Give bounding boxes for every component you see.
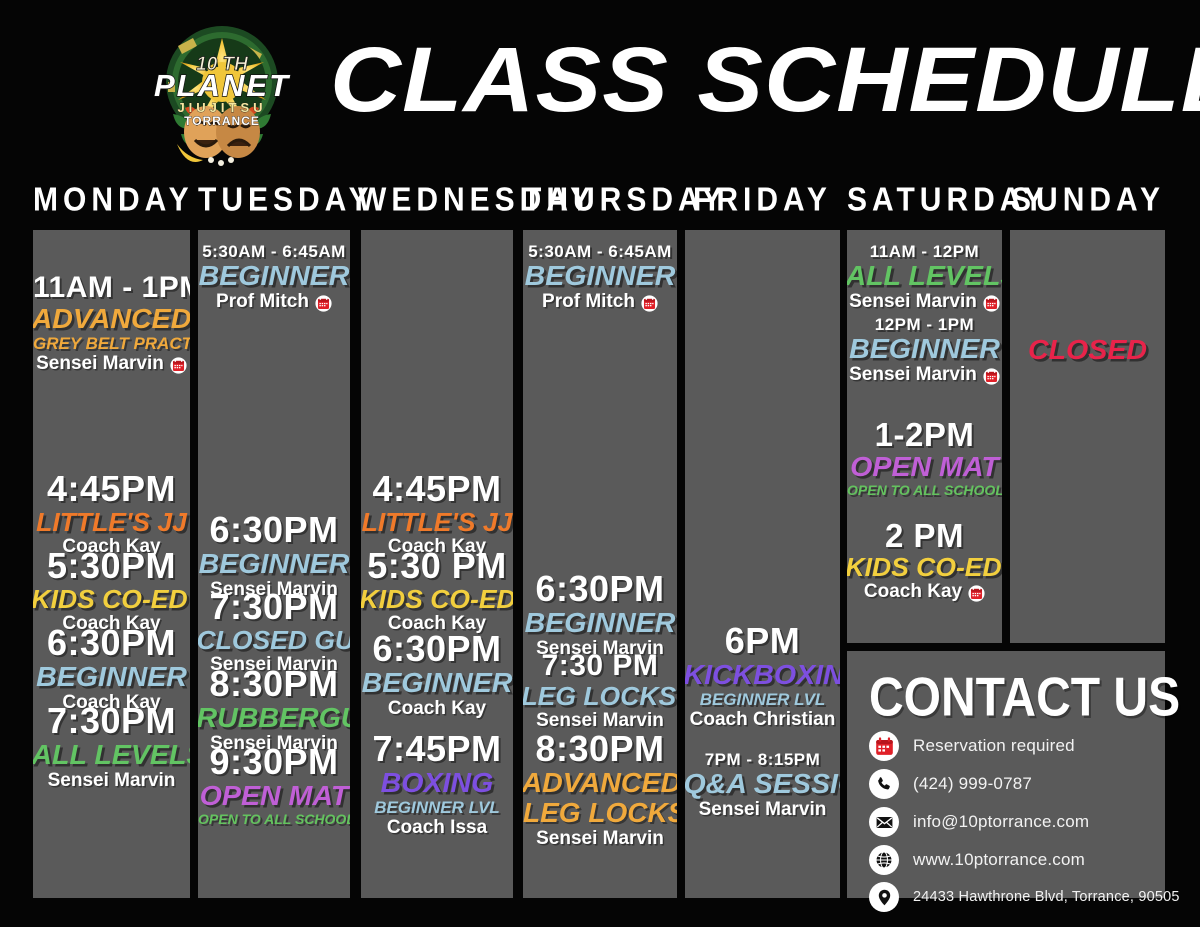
class-title: KICKBOXING [685, 660, 840, 690]
class-slot[interactable]: 7PM - 8:15PMQ&A SESSIONSensei Marvin [685, 750, 840, 821]
class-coach: Coach Kay [388, 698, 486, 720]
class-title: ALL LEVELS [847, 261, 1002, 291]
class-slot[interactable]: 7:30PMALL LEVELSSensei Marvin [33, 702, 190, 792]
class-title: BEGINNER [361, 668, 513, 698]
day-column-tuesday: 5:30AM - 6:45AMBEGINNERProf Mitch6:30PMB… [198, 230, 350, 898]
class-time: 8:30PM [198, 665, 350, 703]
class-slot[interactable]: 2 PMKIDS CO-ED JJCoach Kay [847, 518, 1002, 603]
class-title: BEGINNER [523, 608, 677, 638]
class-coach: Coach Issa [387, 817, 487, 839]
day-column-thursday: 5:30AM - 6:45AMBEGINNERProf Mitch6:30PMB… [523, 230, 677, 898]
reservation-calendar-icon [983, 295, 1000, 312]
class-time: 7PM - 8:15PM [685, 750, 840, 769]
class-slot[interactable]: 8:30PMADVANCEDLEG LOCKSSensei Marvin [523, 730, 677, 850]
day-column-friday: 6PMKICKBOXINGBEGINNER LVLCoach Christian… [685, 230, 840, 898]
class-title: BEGINNER [198, 549, 350, 579]
class-title: LITTLE'S JJ [361, 508, 513, 536]
class-title: CLOSED [1010, 335, 1165, 365]
day-header-sunday: SUNDAY [1008, 178, 1168, 223]
class-slot[interactable]: 5:30 PMKIDS CO-ED JJCoach Kay [361, 547, 513, 635]
day-column-monday: 11AM - 1PMADVANCEDGREY BELT PRACTICESens… [33, 230, 190, 898]
class-title: OPEN MAT [847, 452, 1002, 482]
class-coach: Sensei Marvin [536, 828, 664, 850]
class-slot[interactable]: 7:45PMBOXINGBEGINNER LVLCoach Issa [361, 730, 513, 839]
class-coach: Coach Christian [690, 709, 836, 731]
contact-row-phone[interactable]: (424) 999-0787 [869, 769, 1032, 799]
logo-text-line4: TORRANCE [184, 114, 260, 128]
class-slot[interactable]: 7:30 PMLEG LOCKS 101Sensei Marvin [523, 650, 677, 732]
tenth-planet-jiu-jitsu-torrance-logo: 10 TH PLANET JIUJITSU TORRANCE [133, 22, 311, 170]
class-time: 5:30PM [33, 547, 190, 585]
class-time: 12PM - 1PM [847, 315, 1002, 334]
class-subtitle: BEGINNER LVL [685, 690, 840, 709]
contact-row-calendar[interactable]: Reservation required [869, 731, 1075, 761]
contact-row-globe[interactable]: www.10ptorrance.com [869, 845, 1085, 875]
contact-text: Reservation required [913, 736, 1075, 756]
calendar-icon [869, 731, 899, 761]
class-time: 6:30PM [523, 570, 677, 608]
class-time: 6:30PM [198, 511, 350, 549]
class-title: ADVANCED [523, 768, 677, 798]
class-title: BOXING [361, 768, 513, 798]
class-title: BEGINNER [523, 261, 677, 291]
class-time: 7:30PM [198, 588, 350, 626]
day-header-monday: MONDAY [33, 178, 190, 223]
class-title: BEGINNER [198, 261, 350, 291]
reservation-calendar-icon [170, 357, 187, 374]
class-subtitle: GREY BELT PRACTICE [33, 334, 190, 353]
day-header-wednesday: WEDNESDAY [358, 178, 518, 223]
class-time: 6:30PM [33, 624, 190, 662]
page-title: CLASS SCHEDULE [330, 30, 1068, 130]
phone-icon [869, 769, 899, 799]
class-time: 6:30PM [361, 630, 513, 668]
class-coach: Sensei Marvin [849, 364, 977, 386]
class-time: 5:30AM - 6:45AM [198, 242, 350, 261]
class-title: ADVANCED [33, 304, 190, 334]
day-header-friday: FRIDAY [685, 178, 840, 223]
class-title: RUBBERGUARD [198, 703, 350, 733]
logo-text-line3: JIUJITSU [177, 100, 266, 115]
reservation-calendar-icon [983, 368, 1000, 385]
class-time: 2 PM [847, 518, 1002, 553]
class-title: BEGINNER [847, 334, 1002, 364]
class-coach: Sensei Marvin [849, 291, 977, 313]
class-time: 8:30PM [523, 730, 677, 768]
class-time: 5:30AM - 6:45AM [523, 242, 677, 261]
class-time: 7:30 PM [523, 650, 677, 682]
class-subtitle: OPEN TO ALL SCHOOLS [847, 482, 1002, 498]
contact-text: (424) 999-0787 [913, 774, 1032, 794]
class-slot[interactable]: 6:30PMBEGINNERSensei Marvin [523, 570, 677, 660]
class-title: KIDS CO-ED JJ [361, 585, 513, 613]
day-header-row: MONDAYTUESDAYWEDNESDAYTHURSDAYFRIDAYSATU… [0, 178, 1200, 222]
class-coach: Coach Kay [864, 581, 962, 603]
reservation-calendar-icon [968, 585, 985, 602]
class-time: 6PM [685, 622, 840, 660]
class-slot[interactable]: CLOSED [1010, 335, 1165, 365]
class-subtitle: OPEN TO ALL SCHOOLS [198, 811, 350, 827]
logo-text-line2: PLANET [154, 68, 291, 103]
class-slot[interactable]: 6:30PMBEGINNERCoach Kay [361, 630, 513, 720]
class-time: 4:45PM [33, 470, 190, 508]
class-slot[interactable]: 5:30AM - 6:45AMBEGINNERProf Mitch [523, 242, 677, 313]
day-column-sunday: CLOSED [1010, 230, 1165, 643]
class-slot[interactable]: 6PMKICKBOXINGBEGINNER LVLCoach Christian [685, 622, 840, 731]
contact-text: info@10ptorrance.com [913, 812, 1089, 832]
contact-row-location-pin[interactable]: 24433 Hawthrone Blvd, Torrance, 90505 [869, 882, 1180, 912]
class-coach: Sensei Marvin [36, 353, 164, 375]
class-slot[interactable]: 11AM - 1PMADVANCEDGREY BELT PRACTICESens… [33, 272, 190, 375]
class-time: 4:45PM [361, 470, 513, 508]
class-title: KIDS CO-ED JJ [33, 585, 190, 613]
class-time: 7:45PM [361, 730, 513, 768]
class-title: LEG LOCKS 101 [523, 682, 677, 710]
class-coach: Prof Mitch [216, 291, 309, 313]
class-title: LITTLE'S JJ [33, 508, 190, 536]
page-header: 10 TH PLANET JIUJITSU TORRANCE CLASS SCH… [0, 0, 1200, 172]
contact-row-envelope[interactable]: info@10ptorrance.com [869, 807, 1089, 837]
class-time: 7:30PM [33, 702, 190, 740]
class-time: 9:30PM [198, 743, 350, 781]
class-slot[interactable]: 11AM - 12PMALL LEVELSSensei Marvin [847, 242, 1002, 313]
location-pin-icon [869, 882, 899, 912]
day-header-saturday: SATURDAY [847, 178, 1002, 223]
day-column-wednesday: 4:45PMLITTLE'S JJCoach Kay5:30 PMKIDS CO… [361, 230, 513, 898]
class-time: 5:30 PM [361, 547, 513, 585]
class-slot[interactable]: 9:30PMOPEN MATOPEN TO ALL SCHOOLS [198, 743, 350, 827]
class-title: KIDS CO-ED JJ [847, 553, 1002, 581]
class-title: BEGINNER [33, 662, 190, 692]
reservation-calendar-icon [315, 295, 332, 312]
class-slot[interactable]: 12PM - 1PMBEGINNERSensei Marvin [847, 315, 1002, 386]
class-title: Q&A SESSION [685, 769, 840, 799]
class-coach: Sensei Marvin [699, 799, 827, 821]
contact-text: www.10ptorrance.com [913, 850, 1085, 870]
class-title: ALL LEVELS [33, 740, 190, 770]
contact-text: 24433 Hawthrone Blvd, Torrance, 90505 [913, 887, 1180, 907]
day-header-tuesday: TUESDAY [198, 178, 350, 223]
class-time: 11AM - 1PM [33, 272, 190, 304]
class-slot[interactable]: 1-2PMOPEN MATOPEN TO ALL SCHOOLS [847, 417, 1002, 498]
class-time: 11AM - 12PM [847, 242, 1002, 261]
class-subtitle: LEG LOCKS [523, 798, 677, 828]
contact-title: CONTACT US [869, 669, 1180, 728]
day-column-saturday: 11AM - 12PMALL LEVELSSensei Marvin12PM -… [847, 230, 1002, 643]
class-title: OPEN MAT [198, 781, 350, 811]
class-title: CLOSED GUARD [198, 626, 350, 654]
envelope-icon [869, 807, 899, 837]
day-header-thursday: THURSDAY [523, 178, 677, 223]
globe-icon [869, 845, 899, 875]
contact-panel: CONTACT US Reservation required(424) 999… [847, 651, 1165, 898]
class-coach: Prof Mitch [542, 291, 635, 313]
class-subtitle: BEGINNER LVL [361, 798, 513, 817]
class-slot[interactable]: 5:30AM - 6:45AMBEGINNERProf Mitch [198, 242, 350, 313]
class-time: 1-2PM [847, 417, 1002, 452]
reservation-calendar-icon [641, 295, 658, 312]
class-coach: Sensei Marvin [48, 770, 176, 792]
